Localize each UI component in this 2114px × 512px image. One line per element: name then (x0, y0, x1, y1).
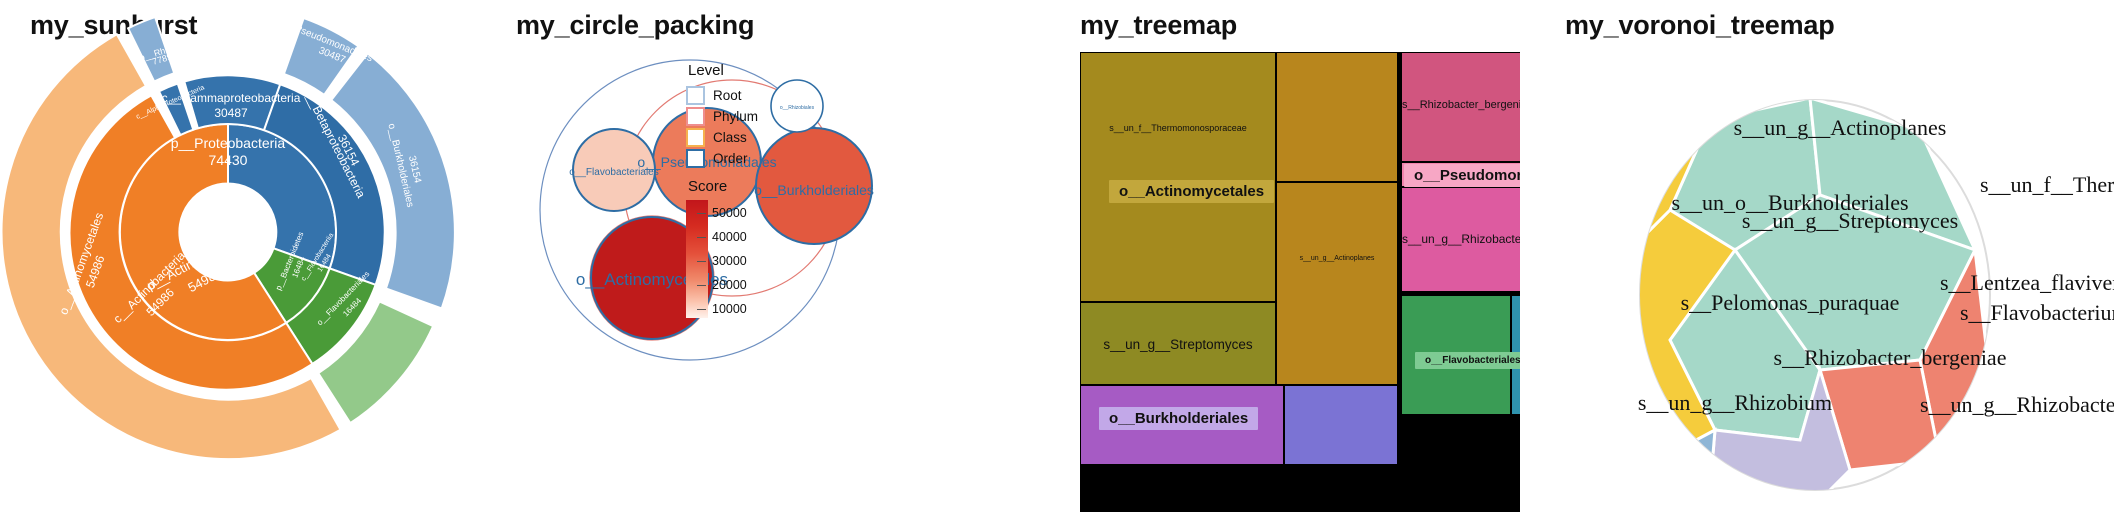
score-tick-40000: 40000 (708, 230, 747, 244)
voronoi-label-lentzea: s__Lentzea_flaviverrucosa (1940, 270, 2114, 295)
treemap-cell-un-g-rhizobacter[interactable]: s__un_g__Rhizobacter (1401, 187, 1525, 292)
treemap-label-thermomonosporaceae: s__un_f__Thermomonosporaceae (1081, 123, 1275, 133)
legend-label-phylum: Phylum (713, 109, 758, 124)
voronoi-region-rhizobium[interactable] (1640, 430, 1715, 500)
panel-voronoi-treemap: my_voronoi_treemap s__un_g__Actinoplanes (1520, 0, 2114, 512)
legend-label-root: Root (713, 88, 742, 103)
legend-swatch-root (686, 86, 705, 105)
figure-canvas: my_sunburst (0, 0, 2114, 512)
sunburst-label-proteobacteria: p__Proteobacteria (171, 135, 286, 151)
treemap-plot: s__un_f__Thermomonosporaceae s__un_g__St… (1080, 52, 1525, 512)
treemap-cell-thermomonosporaceae[interactable]: s__un_f__Thermomonosporaceae (1080, 52, 1276, 302)
treemap-cell-actinomycetales-sub-a[interactable] (1276, 52, 1398, 182)
legend-swatch-class (686, 128, 705, 147)
score-tick-list: 50000 40000 30000 20000 10000 (708, 200, 808, 318)
voronoi-label-flavobacterium: s__Flavobacterium (1960, 300, 2114, 325)
sunburst-value-gammaproteobacteria: 30487 (214, 106, 248, 120)
circle-packing-score-legend: Score 50000 40000 30000 20000 10000 (686, 178, 816, 318)
treemap-cell-streptomyces[interactable]: s__un_g__Streptomyces (1080, 302, 1276, 385)
treemap-label-rhizobacter-bergeniae: s__Rhizobacter_bergeniae (1402, 99, 1524, 111)
legend-label-order: Order (713, 151, 748, 166)
voronoi-plot: s__un_g__Actinoplanes s__un_f__Thermomon… (1520, 0, 2114, 512)
voronoi-label-rhizobacter-bergeniae: s__Rhizobacter_bergeniae (1774, 345, 2007, 370)
legend-item-class[interactable]: Class (686, 127, 806, 147)
legend-swatch-phylum (686, 107, 705, 126)
voronoi-label-streptomyces: s__un_g__Streptomyces (1742, 208, 1958, 233)
legend-score-title: Score (688, 178, 816, 195)
treemap-cell-rhizobacter-bergeniae[interactable]: s__Rhizobacter_bergeniae (1401, 52, 1525, 162)
legend-item-phylum[interactable]: Phylum (686, 106, 806, 126)
treemap-label-un-g-rhizobacter: s__un_g__Rhizobacter (1402, 232, 1524, 246)
voronoi-label-thermomonosporaceae: s__un_f__Thermomonosporaceae (1980, 172, 2114, 197)
legend-item-root[interactable]: Root (686, 85, 806, 105)
score-tick-50000: 50000 (708, 206, 747, 220)
cp-label-flavobacteriales: o__Flavobacteriales (569, 167, 659, 178)
sunburst-plot: p__Proteobacteria 74430 p__Actinobacteri… (0, 0, 500, 512)
circle-packing-level-legend: Level Root Phylum Class Order (686, 62, 806, 169)
panel-treemap: my_treemap s__un_f__Thermomonosporaceae … (1060, 0, 1520, 512)
panel-sunburst: my_sunburst (0, 0, 500, 512)
panel-circle-packing: my_circle_packing o__Actinomycetales o__… (500, 0, 1060, 512)
voronoi-label-rhizobacter: s__un_g__Rhizobacter (1920, 392, 2114, 417)
voronoi-label-rhizobium: s__un_g__Rhizobium (1638, 390, 1832, 415)
score-colorbar (686, 200, 708, 318)
treemap-label-actinoplanes: s__un_g__Actinoplanes (1277, 255, 1397, 262)
treemap-label-streptomyces: s__un_g__Streptomyces (1081, 337, 1275, 352)
treemap-parent-label-pseudomonadales[interactable]: o__Pseudomonadales (1404, 164, 1525, 187)
treemap-title: my_treemap (1080, 10, 1237, 41)
score-tick-30000: 30000 (708, 254, 747, 268)
legend-item-order[interactable]: Order (686, 148, 806, 168)
treemap-parent-label-actinomycetales[interactable]: o__Actinomycetales (1109, 180, 1274, 203)
voronoi-label-pelomonas: s__Pelomonas_puraquae (1681, 290, 1900, 315)
score-tick-20000: 20000 (708, 278, 747, 292)
legend-swatch-order (686, 149, 705, 168)
voronoi-label-actinoplanes: s__un_g__Actinoplanes (1734, 115, 1947, 140)
sunburst-value-proteobacteria: 74430 (209, 152, 248, 168)
treemap-parent-label-flavobacteriales[interactable]: o__Flavobacteriales (1415, 352, 1525, 369)
score-tick-10000: 10000 (708, 302, 747, 316)
treemap-parent-label-burkholderiales[interactable]: o__Burkholderiales (1099, 407, 1258, 430)
treemap-cell-un-o-burkholderiales[interactable] (1284, 385, 1398, 465)
treemap-cell-actinoplanes[interactable]: s__un_g__Actinoplanes (1276, 182, 1398, 385)
legend-label-class: Class (713, 130, 747, 145)
legend-level-title: Level (688, 62, 806, 79)
